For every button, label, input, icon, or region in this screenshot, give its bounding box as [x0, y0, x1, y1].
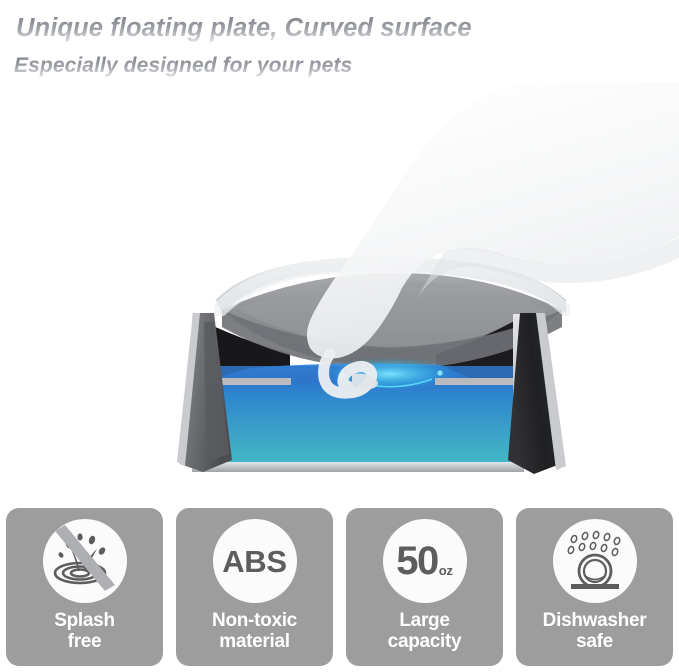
caption-splash-free: Splash free: [51, 610, 118, 653]
badge-dishwasher-safe: [553, 519, 637, 603]
glow-spark-right: [437, 370, 442, 375]
feature-card-splash-free[interactable]: Splash free: [6, 508, 163, 666]
capacity-value: 50: [396, 541, 438, 581]
caption-line-1: Dishwasher: [543, 610, 647, 631]
badge-splash-free: [43, 519, 127, 603]
caption-line-2: free: [54, 631, 115, 652]
shelf-right: [435, 378, 513, 385]
badge-capacity: 50 oz: [383, 519, 467, 603]
headline-secondary: Especially designed for your pets: [14, 54, 352, 78]
abs-material-icon: ABS: [222, 546, 287, 577]
caption-line-1: Large: [399, 610, 449, 631]
caption-line-2: capacity: [388, 631, 462, 652]
feature-card-dishwasher-safe[interactable]: Dishwasher safe: [516, 508, 673, 666]
product-feature-image: Unique floating plate, Curved surface Es…: [0, 0, 679, 672]
caption-line-1: Splash: [54, 610, 115, 631]
caption-line-2: material: [212, 631, 297, 652]
capacity-unit: oz: [439, 564, 453, 577]
splash-free-icon: [47, 523, 123, 599]
feature-card-row: Splash free ABS Non-toxic material 50 oz: [6, 508, 673, 666]
bowl-cutaway-illustration: [0, 82, 679, 494]
feature-card-large-capacity[interactable]: 50 oz Large capacity: [346, 508, 503, 666]
headline-primary: Unique floating plate, Curved surface: [16, 14, 472, 43]
caption-line-2: safe: [543, 631, 647, 652]
caption-dishwasher-safe: Dishwasher safe: [540, 610, 650, 653]
badge-abs-material: ABS: [213, 519, 297, 603]
capacity-icon: 50 oz: [396, 541, 453, 581]
caption-line-1: Non-toxic: [212, 610, 297, 631]
caption-non-toxic: Non-toxic material: [209, 610, 300, 653]
feature-card-non-toxic[interactable]: ABS Non-toxic material: [176, 508, 333, 666]
caption-large-capacity: Large capacity: [385, 610, 465, 653]
headline-block: Unique floating plate, Curved surface Es…: [0, 0, 679, 100]
tank-frame-bottom: [192, 462, 524, 472]
product-hero-image: [0, 82, 679, 494]
dishwasher-safe-icon: [558, 524, 632, 598]
